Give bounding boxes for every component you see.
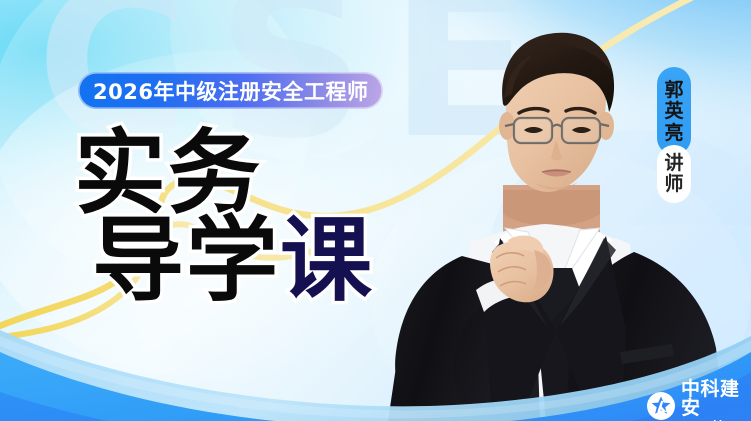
badge-label: 2026年中级注册安全工程师: [93, 76, 368, 106]
instructor-name-char-3: 亮: [664, 123, 683, 144]
instructor-role-char-2: 师: [664, 174, 683, 195]
course-banner: CSE: [0, 0, 751, 421]
instructor-name-char-1: 郭: [664, 80, 683, 101]
instructor-role-pill: 讲 师: [657, 145, 691, 203]
headline-line-2-main: 导学: [92, 207, 280, 314]
star-arrow-circle-icon: [647, 392, 675, 420]
brand-logo-text: 中科建安 www.zkjan.com: [681, 380, 751, 421]
brand-name: 中科建安: [681, 380, 751, 419]
headline-line-1: 实务: [74, 128, 356, 219]
headline: 实务 导学课: [74, 128, 356, 310]
course-title-badge: 2026年中级注册安全工程师: [78, 72, 383, 109]
headline-line-2-accent: 课: [280, 207, 374, 314]
instructor-role-char-1: 讲: [664, 153, 683, 174]
headline-line-2: 导学课: [92, 215, 374, 306]
instructor-badge: 郭 英 亮 讲 师: [657, 67, 691, 203]
instructor-name-pill: 郭 英 亮: [657, 67, 691, 155]
instructor-name-char-2: 英: [664, 101, 683, 122]
brand-logo: 中科建安 www.zkjan.com: [647, 380, 751, 421]
